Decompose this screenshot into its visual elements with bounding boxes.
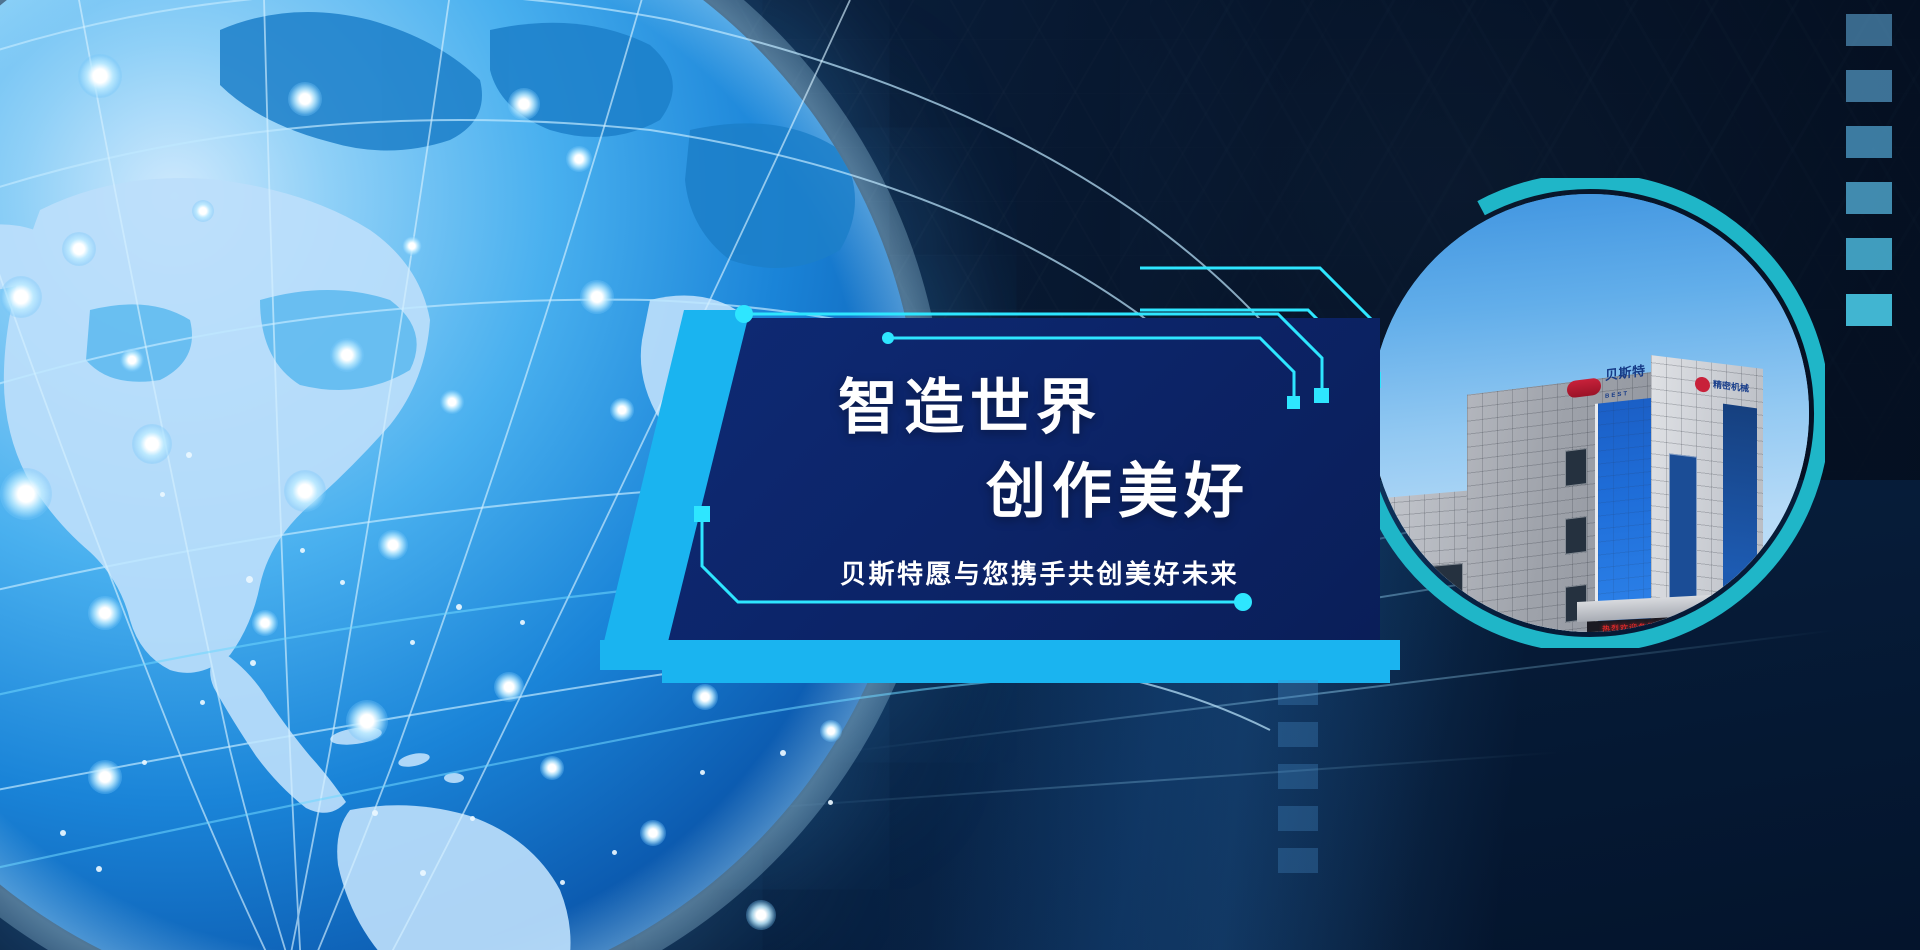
headline-line-1: 智造世界 [838,378,1102,438]
headline-line-2: 创作美好 [986,462,1250,522]
sign-chinese-text: 贝斯特 [1605,363,1646,383]
led-banner-text: 热烈欢迎各级领导莅临指导 [1602,618,1710,632]
edge-marks-bottom [1278,680,1318,873]
secondary-logo-mark [1695,376,1710,393]
edge-marks-right [1846,14,1892,326]
headline-subtitle: 贝斯特愿与您携手共创美好未来 [840,562,1239,588]
sign-english-text: BEST [1605,391,1629,400]
secondary-sign-text: 精密机械 [1713,381,1749,395]
hero-banner: 贝斯特 BEST 精密机械 热烈欢迎各级领导莅临指导 [0,0,1920,950]
panel-bottom-bar-extension [1255,655,1385,677]
company-logo-mark [1567,377,1601,398]
